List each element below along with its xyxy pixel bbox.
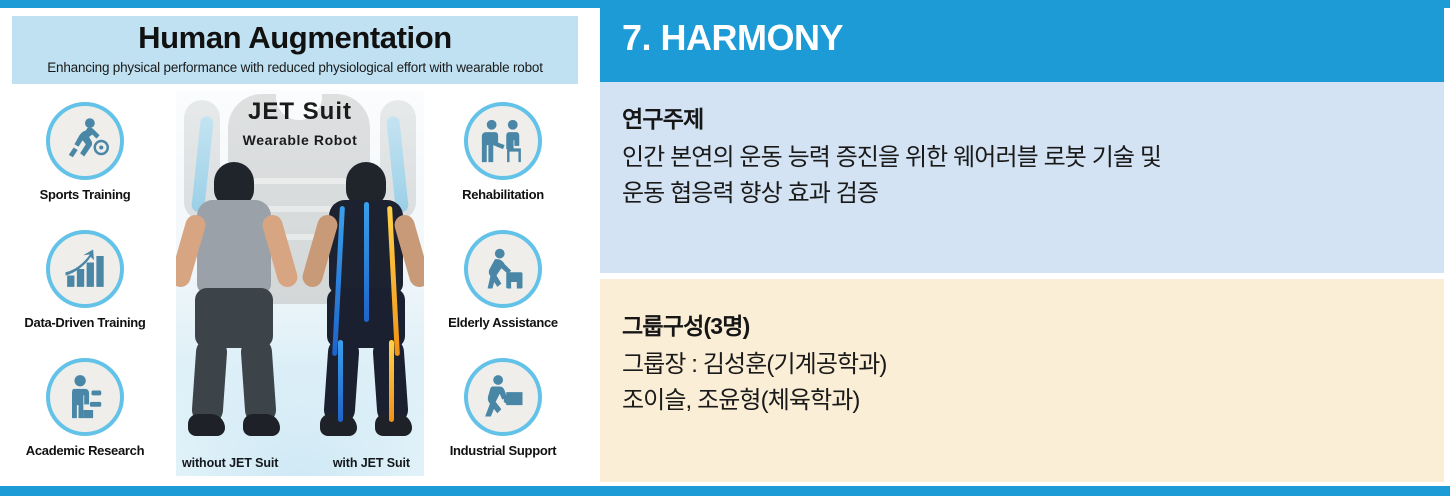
icon-label: Elderly Assistance: [428, 315, 578, 330]
icon-label: Academic Research: [10, 443, 160, 458]
person-research-icon: [46, 358, 124, 436]
icon-label: Sports Training: [10, 187, 160, 202]
suit-stripe-gold: [389, 340, 394, 422]
info-panel: 7. HARMONY 연구주제 인간 본연의 운동 능력 증진을 위한 웨어러블…: [600, 0, 1444, 482]
icon-item-industrial-support: Industrial Support: [428, 358, 578, 458]
icon-item-rehabilitation: Rehabilitation: [428, 102, 578, 202]
group-members-line: 조이슬, 조윤형(체육학과): [622, 383, 1426, 419]
elderly-lifting-icon: [464, 230, 542, 308]
group-leader-line: 그룹장 : 김성훈(기계공학과): [622, 347, 1426, 383]
suit-stripe-blue: [364, 202, 369, 322]
figure-without-suit: [180, 162, 288, 442]
icon-item-academic-research: Academic Research: [10, 358, 160, 458]
group-composition-body: 그룹장 : 김성훈(기계공학과) 조이슬, 조윤형(체육학과): [622, 347, 1426, 420]
figure-torso: [197, 200, 271, 294]
research-topic-line-2: 운동 협응력 향상 효과 검증: [622, 176, 1426, 212]
suit-stripe-blue: [338, 340, 343, 422]
jet-suit-photo: JET Suit Wearable Robot: [176, 90, 424, 476]
caption-without-jet-suit: without JET Suit: [182, 456, 278, 470]
icon-item-sports-training: Sports Training: [10, 102, 160, 202]
jet-suit-title: JET Suit: [176, 98, 424, 126]
icon-label: Rehabilitation: [428, 187, 578, 202]
jet-suit-subtitle: Wearable Robot: [176, 132, 424, 148]
panel-header: 7. HARMONY: [600, 0, 1444, 82]
poster-page: Human Augmentation Enhancing physical pe…: [0, 0, 1450, 496]
figure-leg-right: [240, 337, 277, 425]
banner-title: Human Augmentation: [12, 20, 578, 56]
research-topic-block: 연구주제 인간 본연의 운동 능력 증진을 위한 웨어러블 로봇 기술 및 운동…: [600, 82, 1444, 273]
figure-shoe-right: [243, 414, 280, 436]
icon-item-elderly-assistance: Elderly Assistance: [428, 230, 578, 330]
group-composition-block: 그룹구성(3명) 그룹장 : 김성훈(기계공학과) 조이슬, 조윤형(체육학과): [600, 279, 1444, 482]
infographic-panel: Human Augmentation Enhancing physical pe…: [0, 8, 590, 480]
caption-with-jet-suit: with JET Suit: [333, 456, 410, 470]
worker-carrying-box-icon: [464, 358, 542, 436]
research-topic-line-1: 인간 본연의 운동 능력 증진을 위한 웨어러블 로봇 기술 및: [622, 140, 1426, 176]
banner-subtitle: Enhancing physical performance with redu…: [12, 60, 578, 75]
figure-shoe-left: [188, 414, 225, 436]
panel-header-title: 7. HARMONY: [622, 17, 843, 59]
group-composition-heading: 그룹구성(3명): [622, 307, 750, 341]
therapist-patient-icon: [464, 102, 542, 180]
icon-label: Industrial Support: [428, 443, 578, 458]
banner: Human Augmentation Enhancing physical pe…: [12, 16, 578, 84]
bottom-accent-rule: [0, 486, 1450, 496]
bar-chart-growth-icon: [46, 230, 124, 308]
icon-item-data-driven-training: Data-Driven Training: [10, 230, 160, 330]
research-topic-heading: 연구주제: [622, 100, 703, 134]
icon-label: Data-Driven Training: [10, 315, 160, 330]
research-topic-body: 인간 본연의 운동 능력 증진을 위한 웨어러블 로봇 기술 및 운동 협응력 …: [622, 140, 1426, 213]
figure-with-suit: [312, 162, 420, 442]
running-soccer-icon: [46, 102, 124, 180]
figure-leg-left: [191, 337, 228, 425]
